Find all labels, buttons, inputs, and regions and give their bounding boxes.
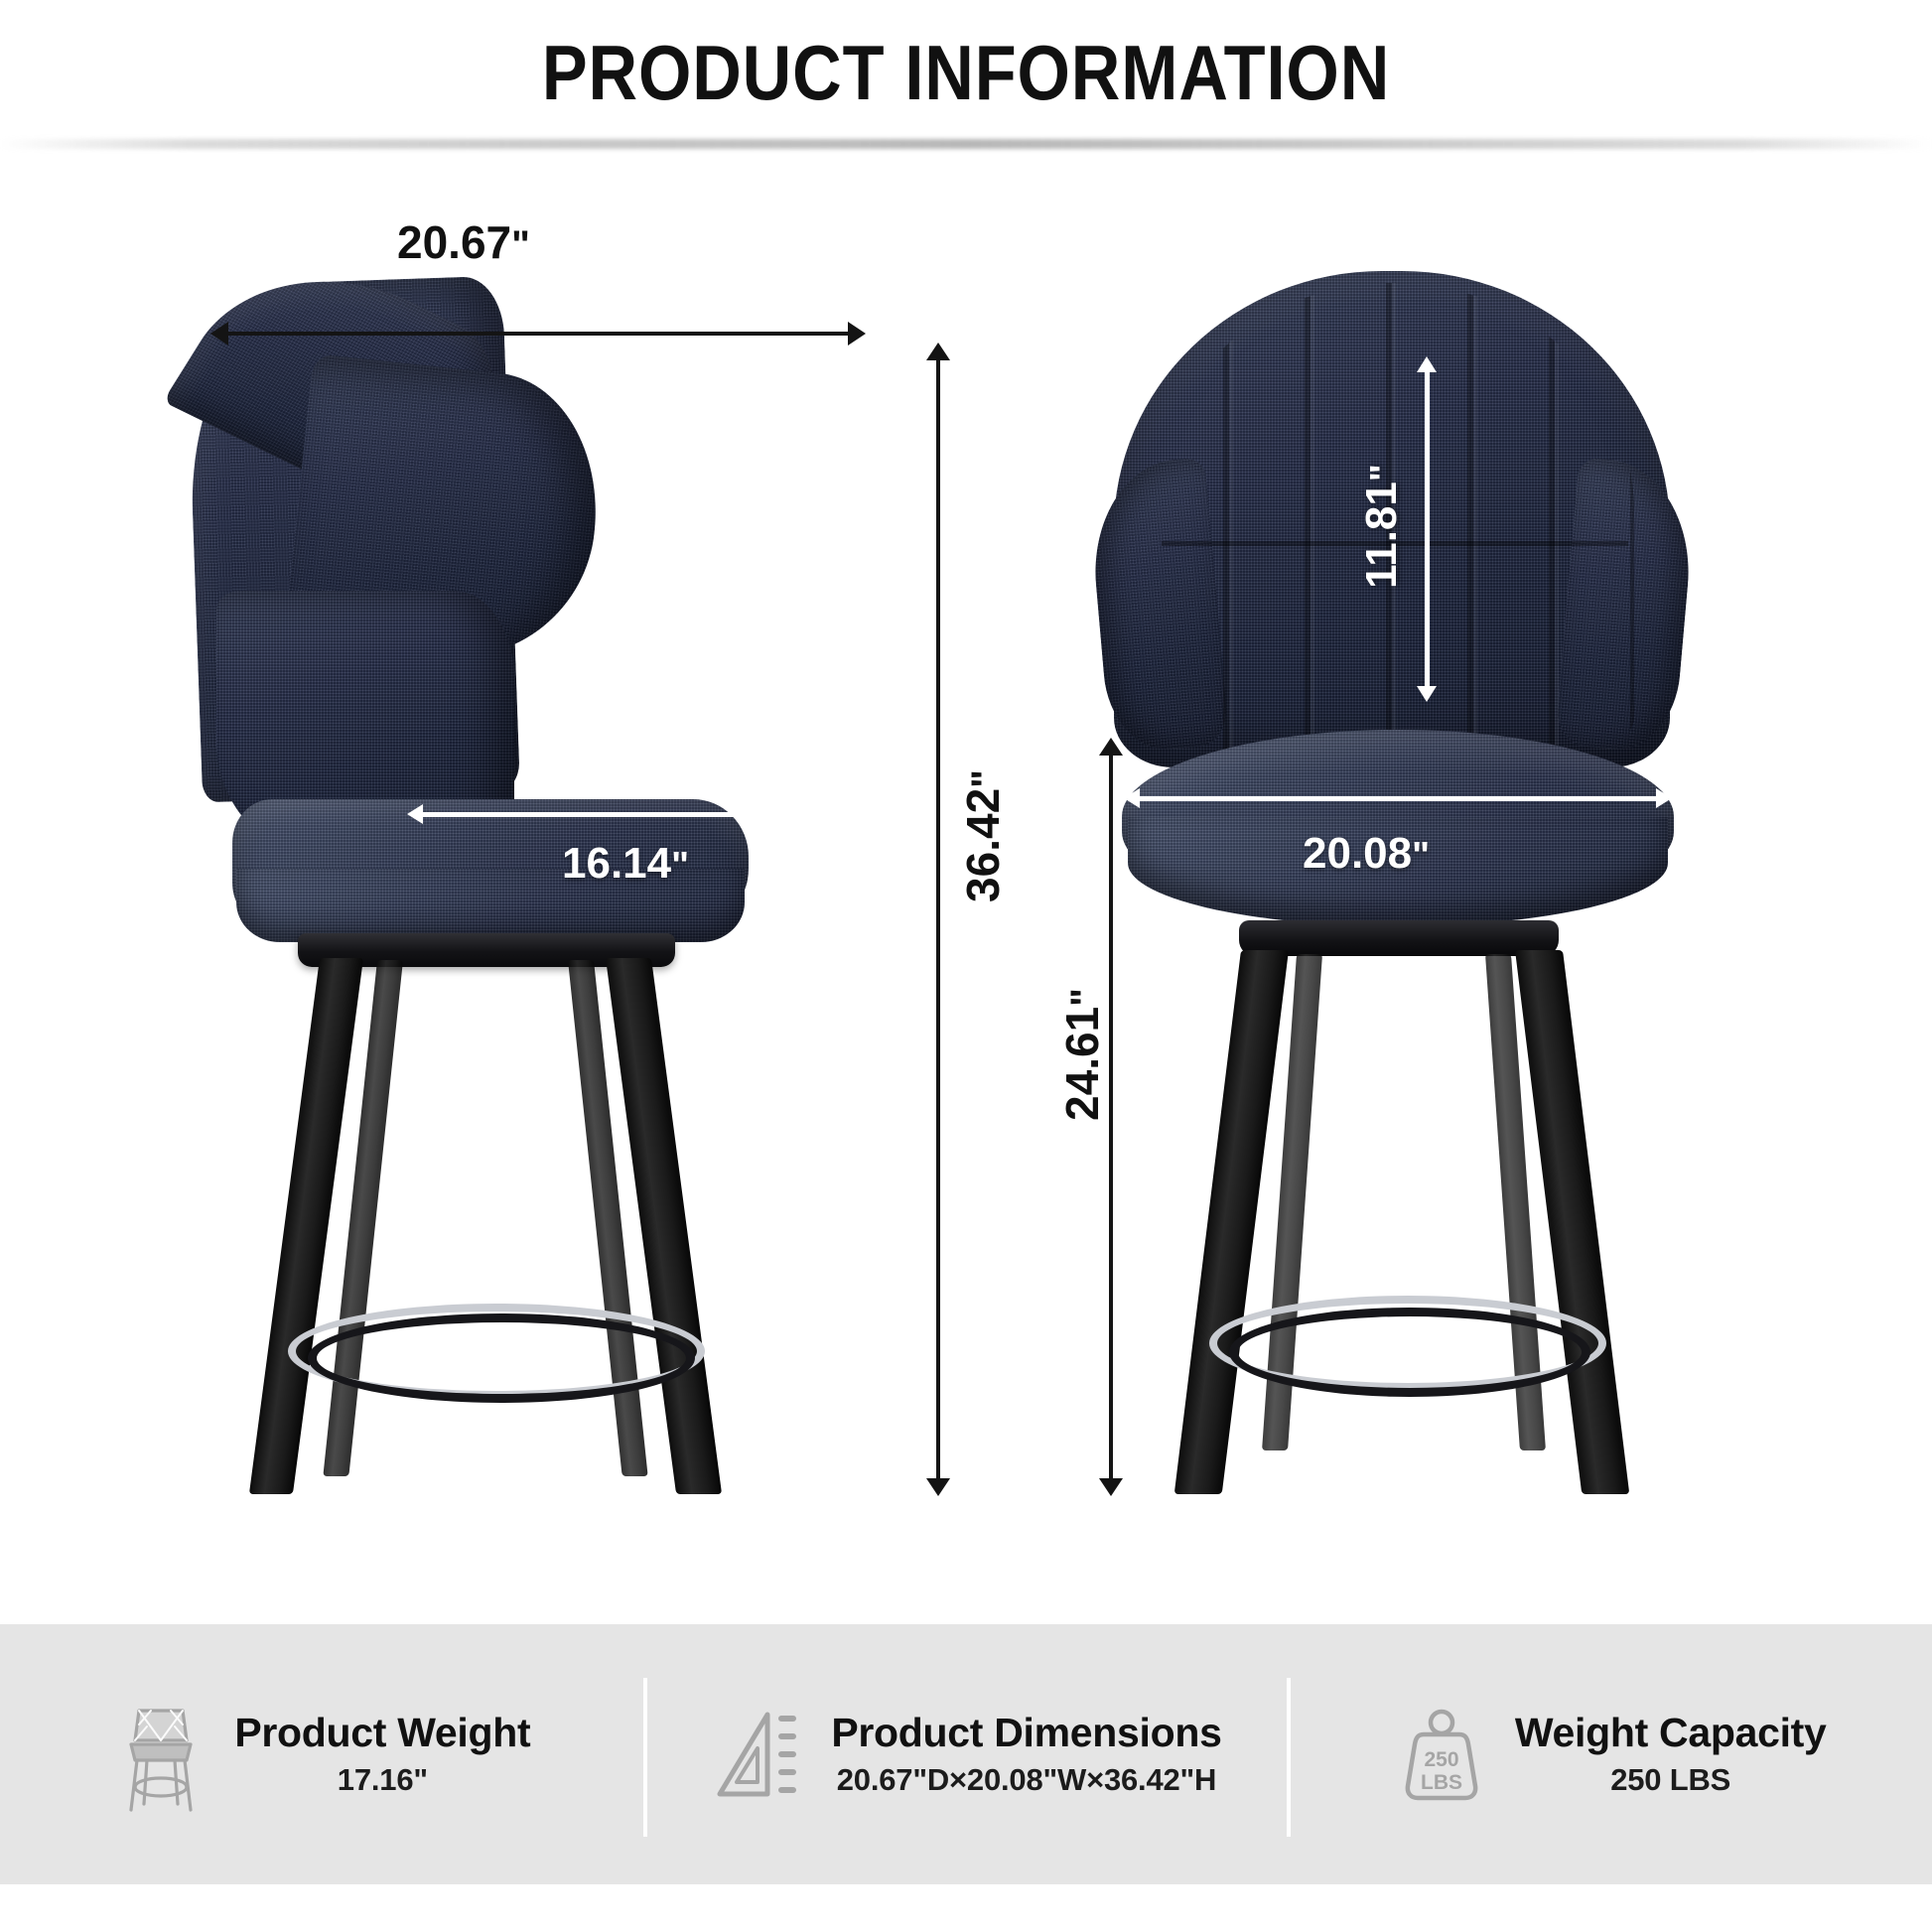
dimension-arrow-overall-height [925, 343, 951, 1496]
weight-250lbs-icon: 250 LBS [1394, 1695, 1489, 1814]
front-footring [1229, 1308, 1590, 1397]
front-backrest-wing-left [1086, 457, 1230, 754]
dimension-label-overall-height: 36.42" [956, 737, 1010, 935]
arrow-shaft [1135, 796, 1661, 801]
spec-value: 20.67"D×20.08"W×36.42"H [837, 1762, 1216, 1798]
bar-stool-front-view: 11.81" 20.08" [1092, 174, 1932, 1504]
arrow-shaft [221, 332, 855, 336]
dimension-value-overall-height: 36.42 [957, 788, 1009, 902]
dimension-unit-overall-height: " [964, 769, 1008, 788]
spec-item-product-dimensions: Product Dimensions 20.67"D×20.08"W×36.42… [644, 1624, 1289, 1884]
page-title: PRODUCT INFORMATION [116, 28, 1816, 118]
footer-divider-2 [1287, 1678, 1291, 1837]
spec-value: 17.16" [338, 1762, 428, 1798]
weight-icon-text-bottom: LBS [1421, 1771, 1462, 1794]
dimension-value-back-height: 11.81 [1357, 482, 1406, 589]
footer-bottom-strip [0, 1884, 1932, 1932]
spec-text-product-weight: Product Weight 17.16" [234, 1711, 530, 1799]
arrow-head-right-icon [836, 804, 852, 824]
arrow-head-right-icon [1656, 788, 1672, 808]
weight-icon-text-top: 250 [1424, 1748, 1458, 1771]
arrow-shaft [936, 353, 940, 1485]
spec-label: Product Weight [234, 1711, 530, 1756]
dimension-value-depth: 20.67 [397, 216, 511, 268]
bar-stool-side-view: 20.67" 16.14" [0, 174, 894, 1504]
dimension-value-seat-depth: 16.14 [562, 839, 671, 888]
arrow-head-down-icon [1417, 686, 1437, 702]
side-footring [308, 1313, 695, 1403]
dimension-label-depth: 20.67" [397, 215, 530, 269]
header: PRODUCT INFORMATION [0, 0, 1932, 174]
arrow-shaft [418, 812, 841, 817]
spec-label: Product Dimensions [831, 1711, 1221, 1756]
dimension-unit-depth: " [511, 223, 530, 267]
dimension-label-back-height: 11.81" [1357, 427, 1407, 625]
dimension-label-width: 20.08" [1303, 829, 1430, 879]
dimension-value-width: 20.08 [1303, 829, 1412, 878]
front-backrest-wing-right [1555, 457, 1699, 754]
arrow-head-down-icon [926, 1478, 950, 1496]
dimension-arrow-depth [210, 321, 866, 346]
product-spec-footer: Product Weight 17.16" Product Dimensions… [0, 1624, 1932, 1884]
spec-item-product-weight: Product Weight 17.16" [0, 1624, 644, 1884]
spec-text-product-dimensions: Product Dimensions 20.67"D×20.08"W×36.42… [831, 1711, 1221, 1799]
spec-text-weight-capacity: Weight Capacity 250 LBS [1515, 1711, 1827, 1799]
footer-divider-1 [643, 1678, 647, 1837]
spec-item-weight-capacity: 250 LBS Weight Capacity 250 LBS [1288, 1624, 1932, 1884]
ruler-triangle-icon [710, 1695, 805, 1814]
arrow-shaft [1425, 367, 1430, 691]
dimension-arrow-back-height [1416, 356, 1438, 702]
spec-label: Weight Capacity [1515, 1711, 1827, 1756]
arrow-head-right-icon [848, 322, 866, 345]
dimension-unit-back-height: " [1363, 464, 1405, 482]
dimension-arrow-width [1124, 787, 1672, 809]
dimension-arrow-seat-depth [407, 803, 852, 825]
dimension-unit-width: " [1412, 835, 1430, 877]
bar-stool-icon [113, 1695, 208, 1814]
dimension-label-seat-depth: 16.14" [562, 839, 689, 889]
dimension-unit-seat-depth: " [671, 845, 689, 887]
header-divider [0, 139, 1932, 149]
spec-value: 250 LBS [1610, 1762, 1730, 1798]
product-diagram-stage: 20.67" 16.14" 36.42" 24.61" [0, 174, 1932, 1624]
